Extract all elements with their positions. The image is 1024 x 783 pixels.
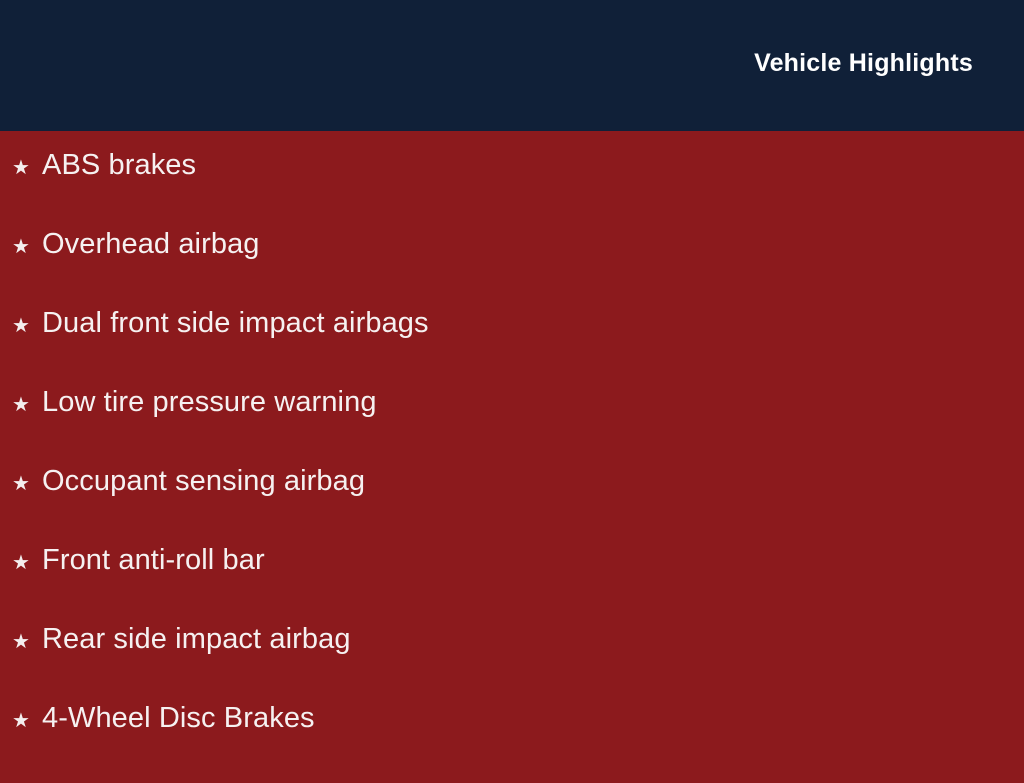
star-icon: ★ [12, 710, 42, 730]
list-item: ★ Overhead airbag [0, 230, 1024, 309]
list-item-label: Rear side impact airbag [42, 625, 351, 654]
page-title: Vehicle Highlights [754, 51, 973, 76]
list-item-label: Low tire pressure warning [42, 388, 377, 417]
star-icon: ★ [12, 157, 42, 177]
list-item: ★ 4-Wheel Disc Brakes [0, 704, 1024, 783]
vehicle-feature-list: ★ ABS brakes ★ Overhead airbag ★ Dual fr… [0, 151, 1024, 783]
list-item: ★ Dual front side impact airbags [0, 309, 1024, 388]
list-item-label: 4-Wheel Disc Brakes [42, 704, 315, 733]
list-item: ★ Low tire pressure warning [0, 388, 1024, 467]
list-item-label: ABS brakes [42, 151, 196, 180]
list-item-label: Overhead airbag [42, 230, 260, 259]
list-item-label: Front anti-roll bar [42, 546, 265, 575]
list-item: ★ Rear side impact airbag [0, 625, 1024, 704]
slide-body: ★ ABS brakes ★ Overhead airbag ★ Dual fr… [0, 131, 1024, 768]
star-icon: ★ [12, 236, 42, 256]
list-item-label: Dual front side impact airbags [42, 309, 429, 338]
star-icon: ★ [12, 394, 42, 414]
list-item: ★ Front anti-roll bar [0, 546, 1024, 625]
list-item: ★ Occupant sensing airbag [0, 467, 1024, 546]
star-icon: ★ [12, 315, 42, 335]
slide-header: Vehicle Highlights [0, 0, 1024, 131]
vehicle-highlights-slide: Vehicle Highlights ★ ABS brakes ★ Overhe… [0, 0, 1024, 768]
star-icon: ★ [12, 631, 42, 651]
list-item-label: Occupant sensing airbag [42, 467, 365, 496]
star-icon: ★ [12, 552, 42, 572]
list-item: ★ ABS brakes [0, 151, 1024, 230]
star-icon: ★ [12, 473, 42, 493]
